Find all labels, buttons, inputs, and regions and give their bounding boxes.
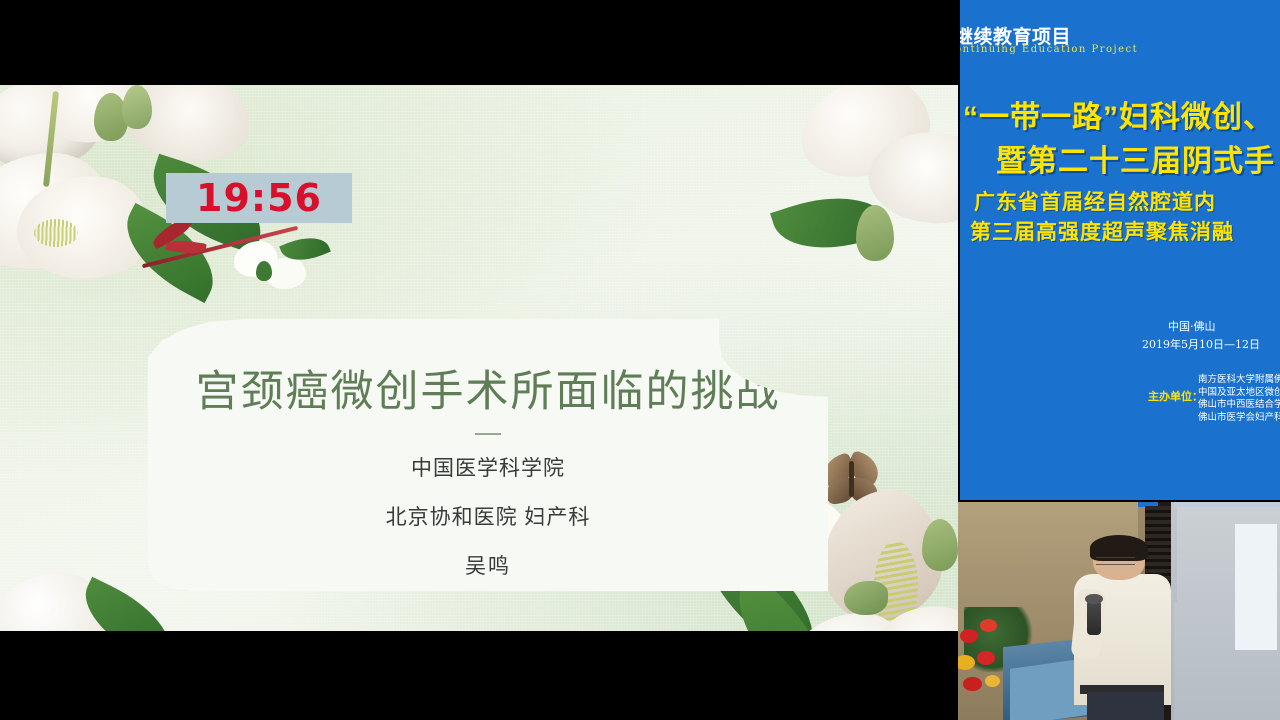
organizer-item: 佛山市中西医结合学会: [1198, 399, 1280, 412]
poster-headline-primary: ·“一带一路”妇科微创、: [960, 92, 1274, 136]
countdown-timer: 19:56: [166, 173, 352, 223]
poster-organizer-list: 南方医科大学附属佛山妇 中国及亚太地区微创妇科 佛山市中西医结合学会 佛山市医学…: [1198, 374, 1280, 424]
presenter-camera-feed[interactable]: [958, 502, 1280, 720]
poster-headline-secondary: 暨第二十三届阴式手: [996, 136, 1275, 180]
camera-projection-highlight: [1235, 524, 1277, 650]
floral-decoration-branch: [226, 235, 336, 305]
poster-logo-english: Continuing Education Project: [960, 44, 1138, 55]
floral-decoration-right: [760, 85, 958, 395]
slide-title: 宫颈癌微创手术所面临的挑战: [196, 357, 781, 419]
title-divider: [475, 433, 501, 435]
poster-location: 中国·佛山: [1168, 318, 1216, 334]
slide-video-pane[interactable]: 宫颈癌微创手术所面临的挑战 中国医学科学院 北京协和医院 妇产科 吴鸣 19:5…: [0, 0, 958, 720]
poster-subheadline-two: 第三届高强度超声聚焦消融: [970, 216, 1234, 246]
slide-presenter-name: 吴鸣: [465, 550, 511, 580]
microphone-icon: [1087, 600, 1101, 635]
glasses-icon: [1096, 557, 1135, 566]
presentation-slide: 宫颈癌微创手术所面临的挑战 中国医学科学院 北京协和医院 妇产科 吴鸣 19:5…: [0, 85, 958, 631]
right-panel: 继续教育项目 Continuing Education Project ·“一带…: [958, 0, 1280, 720]
slide-department: 北京协和医院 妇产科: [386, 501, 591, 531]
organizer-item: 佛山市医学会妇产科: [1198, 412, 1280, 425]
organizer-item: 中国及亚太地区微创妇科: [1198, 387, 1280, 400]
poster-subheadline-one: 广东省首届经自然腔道内: [974, 186, 1216, 216]
speaker-trousers: [1087, 692, 1164, 720]
conference-poster-banner: 继续教育项目 Continuing Education Project ·“一带…: [960, 0, 1280, 500]
video-player-stage: 宫颈癌微创手术所面临的挑战 中国医学科学院 北京协和医院 妇产科 吴鸣 19:5…: [0, 0, 1280, 720]
poster-organizer-label: 主办单位：: [1148, 388, 1203, 404]
countdown-timer-value: 19:56: [196, 176, 322, 220]
poster-date: 2019年5月10日—12日: [1142, 336, 1260, 352]
organizer-item: 南方医科大学附属佛山妇: [1198, 374, 1280, 387]
slide-institution: 中国医学科学院: [411, 452, 565, 482]
